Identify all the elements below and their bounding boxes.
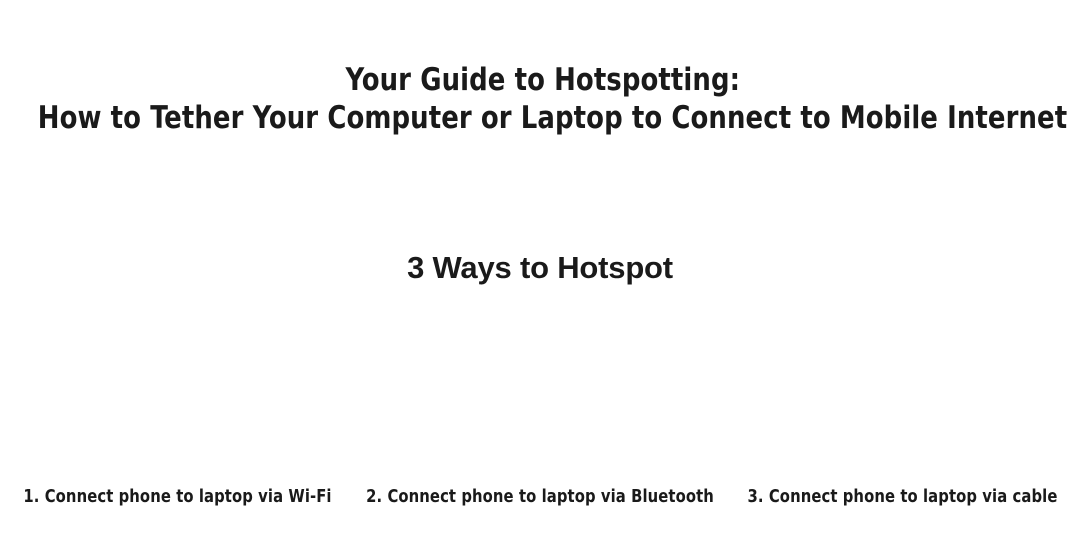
method-caption-row: 1. Connect phone to laptop via Wi-Fi 2. …: [0, 486, 1080, 508]
method-illustration-wifi: [0, 275, 360, 475]
method-caption-wifi: 1. Connect phone to laptop via Wi-Fi: [11, 486, 345, 508]
method-caption-cable: 3. Connect phone to laptop via cable: [736, 486, 1070, 508]
method-illustration-row: [0, 275, 1080, 475]
page-title-line-2: How to Tether Your Computer or Laptop to…: [38, 99, 1042, 137]
page-title-line-1: Your Guide to Hotspotting:: [38, 61, 1042, 99]
method-illustration-bluetooth: [360, 275, 720, 475]
method-caption-bluetooth: 2. Connect phone to laptop via Bluetooth: [366, 486, 714, 508]
page-title: Your Guide to Hotspotting: How to Tether…: [38, 61, 1042, 137]
method-illustration-cable: [720, 275, 1080, 475]
article-page: Your Guide to Hotspotting: How to Tether…: [0, 0, 1080, 552]
